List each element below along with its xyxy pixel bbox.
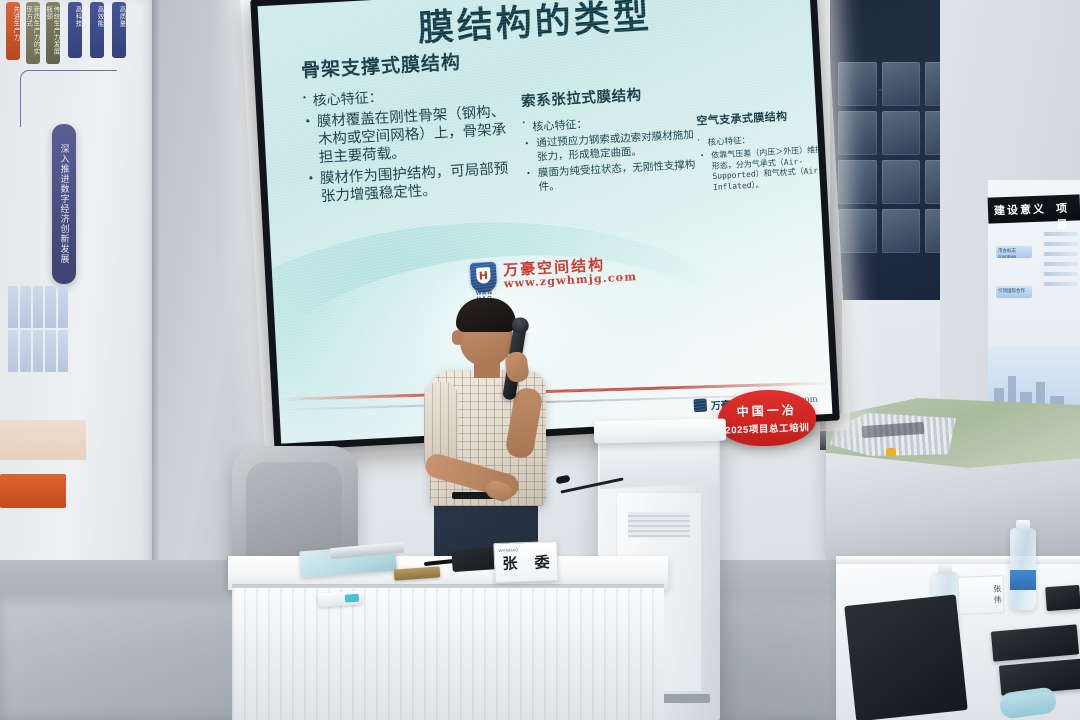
photo-tile: [882, 62, 921, 106]
panel-row: [1044, 262, 1078, 266]
wall-card-grid: [8, 286, 68, 372]
table-skirt: [232, 588, 664, 720]
wall-pale-panel: [0, 420, 86, 460]
photo-tile: [882, 111, 921, 155]
slide-column-3-heading: 空气支承式膜结构: [696, 106, 825, 129]
wall-strip-5: 高质量: [112, 2, 126, 58]
wall-card: [20, 330, 30, 372]
wall-orange-panel: [0, 474, 66, 508]
speaker-right-hand: [504, 351, 530, 384]
left-wall-exhibit: 先进生产力 新质生产力的实现方式 传统生产力发展瓶颈 高科技 高效能 高质量 深…: [0, 0, 152, 600]
podium-surface: [594, 419, 726, 444]
wall-strip-4: 高效能: [90, 2, 104, 58]
photo-tile: [882, 160, 921, 204]
wanhao-shield-icon: H WAN HAO: [470, 262, 498, 293]
photo-tile: [882, 209, 921, 253]
wall-card: [33, 286, 43, 328]
bottle-cap: [1016, 520, 1030, 530]
speaker-ear: [452, 330, 463, 345]
wall-card: [45, 330, 55, 372]
wall-strip-2: 传统生产力发展瓶颈: [46, 2, 60, 64]
wall-card: [8, 330, 18, 372]
small-nameplate-text: 张伟: [959, 584, 1004, 608]
wall-card: [58, 286, 68, 328]
badge-line-2: 2025项目总工培训: [725, 419, 810, 436]
wall-strip-1: 新质生产力的实现方式: [26, 2, 40, 64]
panel-row-list: [1044, 232, 1078, 292]
bottle-cap: [938, 564, 952, 574]
wall-card: [20, 286, 30, 328]
slide-point: 膜面为纯受拉状态，无刚性支撑构件。: [525, 158, 704, 195]
panel-box: 市办标志countries: [996, 246, 1032, 258]
panel-header-label-1: 建设意义: [994, 201, 1047, 219]
panel-row: [1044, 272, 1078, 276]
wall-connector-line: [20, 70, 117, 127]
slide-column-1-points: 膜材覆盖在刚性骨架（钢构、木构或空间网格）上，骨架承担主要荷载。 膜材作为围护结…: [303, 102, 522, 206]
scale-model-marker: [886, 448, 896, 456]
panel-row: [1044, 252, 1078, 256]
slide-column-1: 骨架支撑式膜结构 核心特征： 膜材覆盖在刚性骨架（钢构、木构或空间网格）上，骨架…: [300, 44, 522, 209]
photo-tile: [838, 209, 877, 253]
panel-row: [1044, 282, 1078, 286]
small-desk-nameplate: 张伟: [957, 575, 1004, 615]
mic-capsule: [555, 475, 570, 485]
exhibit-panel-header: 建设意义 项目: [988, 194, 1080, 223]
panel-box: 引领国际合作: [996, 286, 1032, 298]
wanhao-logo-mark: H: [470, 269, 497, 283]
photo-tile: [838, 111, 877, 155]
wall-strip-3: 高科技: [68, 2, 82, 58]
front-desk-edge: [836, 556, 1080, 564]
panel-row: [1044, 242, 1078, 246]
panel-header-label-2: 项目: [1056, 199, 1080, 232]
nameplate-logo: WANHAO: [498, 547, 520, 556]
laptop-screen: [844, 594, 968, 720]
wall-card: [8, 286, 18, 328]
wall-card: [58, 330, 68, 372]
slide-title: 膜结构的类型: [258, 0, 812, 60]
slide-column-2-heading: 索系张拉式膜结构: [520, 81, 699, 112]
slide-column-3-points: 依靠气压差（内压＞外压）维持形态，分为气承式（Air-Supported）和气枕…: [698, 145, 828, 194]
photo-tile: [838, 160, 877, 204]
wall-card: [45, 286, 55, 328]
screenshot-root: 先进生产力 新质生产力的实现方式 传统生产力发展瓶颈 高科技 高效能 高质量 深…: [0, 0, 1080, 720]
mic-head-icon: [511, 316, 530, 334]
slide-column-2-points: 通过预应力钢索或边索对膜材施加张力，形成稳定曲面。 膜面为纯受拉状态，无刚性支撑…: [523, 128, 704, 195]
desk-nameplate: WANHAO 张 委: [493, 541, 558, 583]
slide-column-2: 索系张拉式膜结构 核心特征： 通过预应力钢索或边索对膜材施加张力，形成稳定曲面。…: [520, 81, 704, 198]
badge-line-1: 中国一冶: [736, 400, 797, 419]
panel-row: [1044, 232, 1078, 236]
notebook: [1045, 585, 1080, 611]
podium-speaker-grille: [628, 512, 690, 538]
footer-logo-icon: [693, 399, 707, 413]
photo-tile: [838, 62, 877, 106]
speaker-hair: [456, 298, 516, 332]
water-bottle: [1010, 528, 1036, 610]
gooseneck-microphone: [560, 470, 624, 510]
slide-point: 膜材作为围护结构，可局部预张力增强稳定性。: [307, 159, 523, 207]
bottle-label: [1010, 570, 1036, 590]
slide-point: 依靠气压差（内压＞外压）维持形态，分为气承式（Air-Supported）和气枕…: [698, 145, 828, 194]
wall-vertical-plaque: 深入推进数字经济创新发展: [52, 124, 76, 284]
slide-column-3: 空气支承式膜结构 核心特征： 依靠气压差（内压＞外压）维持形态，分为气承式（Ai…: [696, 106, 828, 197]
wall-card: [33, 330, 43, 372]
wall-strip-0: 先进生产力: [6, 2, 20, 60]
slide-point: 膜材覆盖在刚性骨架（钢构、木构或空间网格）上，骨架承担主要荷载。: [303, 102, 520, 167]
